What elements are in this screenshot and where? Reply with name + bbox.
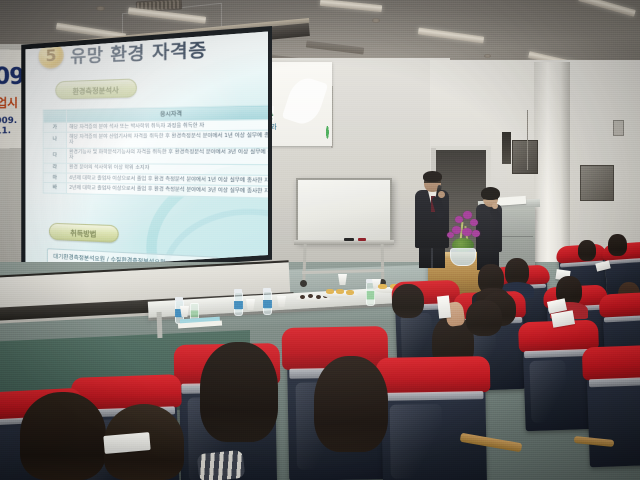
fluorescent-light-icon	[306, 40, 364, 54]
audience-person	[200, 342, 278, 442]
audience-person	[505, 258, 529, 286]
whiteboard-leg-right	[381, 244, 385, 282]
snack-item	[346, 290, 354, 295]
banner-left-number: 09	[0, 63, 24, 90]
snack-item	[378, 284, 387, 289]
wall-mounted-box	[613, 120, 624, 136]
projected-slide: 5 유망 환경 자격증 환경측정분석사 응시자격 가해당 자격증의 분야 석사 …	[24, 30, 268, 272]
table-cell-key: 나	[43, 132, 66, 147]
orchid-bloom	[470, 219, 478, 226]
table-cell-key: 바	[43, 183, 66, 193]
speaker-hand	[438, 191, 445, 198]
banner-left-red-text: 업시	[0, 94, 18, 111]
seat-headrest	[599, 291, 640, 318]
seat-sheen	[390, 404, 443, 479]
person-head	[466, 300, 502, 336]
projection-screen: 5 유망 환경 자격증 환경측정분석사 응시자격 가해당 자격증의 분야 석사 …	[24, 30, 268, 272]
table-cell-key: 마	[43, 173, 66, 183]
person-head	[608, 234, 627, 256]
orchid-bloom	[462, 228, 472, 236]
seat-sheen	[529, 360, 567, 423]
audience-person	[314, 356, 388, 452]
snack-item	[308, 294, 313, 298]
orchid-bloom	[447, 232, 454, 238]
snack-item	[300, 295, 305, 299]
snack-item	[336, 289, 344, 294]
audience-person	[466, 300, 502, 336]
front-table-leg	[157, 312, 163, 338]
whiteboard-caster	[300, 280, 307, 287]
table-cell-text: 해당 자격증의 분야 산업기사의 자격을 취득한 후 환경측정분석 분야에서 1…	[66, 130, 268, 148]
seat-headrest	[582, 345, 640, 381]
slide-qualification-table: 응시자격 가해당 자격증의 분야 석사 또는 박사학위 취득자 과정을 취득한 …	[43, 104, 268, 198]
table-cell-key: 다	[43, 148, 66, 163]
audience-person	[608, 234, 627, 256]
table-cell-key: 라	[43, 163, 66, 173]
ceiling-sprinkler-icon	[372, 18, 380, 23]
bottle-cap	[263, 288, 271, 292]
auditorium-photo: 09 업시 009. 11. 수회 전략토론 한 환경공학과 5 유망 환경 자…	[0, 0, 640, 480]
bottle-cap	[175, 297, 183, 301]
orchid-bloom	[463, 211, 472, 219]
table-header-blank	[43, 109, 66, 122]
orchid-bloom	[455, 216, 463, 223]
whiteboard-marker	[358, 238, 366, 241]
person-head	[578, 240, 596, 261]
audience-person	[392, 284, 424, 318]
orchid-bloom	[472, 230, 480, 237]
person-head	[200, 342, 278, 442]
bottle-label	[234, 301, 243, 309]
speaker-hair	[423, 171, 442, 182]
fluorescent-light-icon	[418, 27, 484, 43]
podium-person-hair	[481, 187, 500, 200]
bottle-cap	[234, 289, 242, 293]
seat-headrest	[376, 356, 491, 394]
whiteboard-marker	[344, 238, 354, 241]
snack-item	[316, 295, 321, 299]
person-head	[20, 392, 106, 480]
wall-control-panel	[580, 165, 614, 201]
held-paper	[437, 295, 451, 318]
person-head	[314, 356, 388, 452]
table-cell-text: 환경기능사 및 화학분석기능사의 자격을 취득한 후 환경측정분석 분야에서 3…	[66, 147, 268, 164]
slide-bottom-pill: 취득방법	[49, 223, 119, 243]
table-cell-key: 가	[43, 122, 66, 132]
audience-striped-sleeve	[197, 450, 246, 480]
bottle-label	[263, 300, 272, 308]
fluorescent-light-icon	[320, 0, 382, 12]
fluorescent-light-icon	[128, 7, 206, 23]
ceiling-sprinkler-icon	[96, 6, 105, 11]
person-head	[392, 284, 424, 318]
seat	[381, 367, 487, 480]
podium-person-hand	[492, 203, 498, 209]
ceiling-sprinkler-icon	[484, 54, 491, 58]
ceiling-air-grille	[136, 0, 183, 13]
audience-person	[20, 392, 106, 480]
table-row: 다환경기능사 및 화학분석기능사의 자격을 취득한 후 환경측정분석 분야에서 …	[43, 147, 268, 164]
slide-table-body: 가해당 자격증의 분야 석사 또는 박사학위 취득자 과정을 취득한 자나해당 …	[43, 119, 268, 198]
audience-person	[578, 240, 596, 261]
wall-plaque	[502, 132, 511, 164]
hanging-cord	[527, 110, 528, 170]
table-row: 나해당 자격증의 분야 산업기사의 자격을 취득한 후 환경측정분석 분야에서 …	[43, 130, 268, 148]
fluorescent-light-icon	[578, 0, 636, 17]
speaker-box-icon	[512, 140, 538, 174]
snack-item	[326, 289, 334, 294]
speaker-leg-gap	[431, 248, 433, 268]
flower-vase	[450, 248, 476, 266]
slide-section-pill: 환경측정분석사	[55, 78, 137, 99]
seat-trim	[588, 377, 640, 387]
seat	[586, 355, 640, 468]
whiteboard	[296, 178, 392, 242]
